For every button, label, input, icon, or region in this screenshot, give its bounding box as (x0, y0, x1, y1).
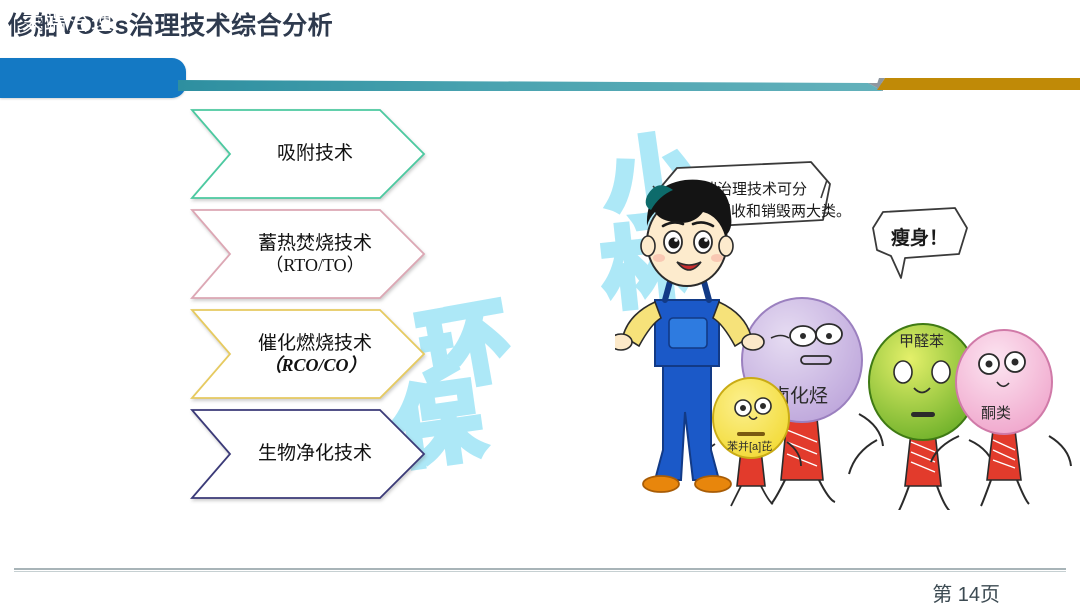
balloon-pink-label: 酮类 (981, 405, 1011, 422)
cartoon-illustration: 末端治理技术可分 为回收和销毁两大类。 瘦身！ 甲醛苯 (615, 150, 1075, 510)
chevron-label-2: 蓄热焚烧技术 （RTO/TO） (190, 208, 426, 300)
chevron-line1-2: 蓄热焚烧技术 (258, 233, 372, 255)
header-gold-bar (877, 78, 1080, 92)
slide-root: 修船VOCs治理技术综合分析 末端治理 小 林 环 保 (0, 0, 1080, 608)
chevron-item-1[interactable]: 吸附技术 (190, 108, 426, 200)
chevron-label-3: 催化燃烧技术 （RCO/CO） (190, 308, 426, 400)
technology-chevron-list: 吸附技术 蓄热焚烧技术 （RTO/TO） 催化燃烧技术 （RCO/CO） (190, 108, 430, 512)
chevron-label-4: 生物净化技术 (190, 408, 426, 500)
balloon-green-label: 甲醛苯 (899, 333, 944, 350)
chevron-item-3[interactable]: 催化燃烧技术 （RCO/CO） (190, 308, 426, 400)
chevron-line1-3: 催化燃烧技术 (258, 333, 372, 355)
chevron-line2-2: （RTO/TO） (265, 255, 364, 276)
speech-small-text: 瘦身！ (891, 226, 948, 249)
chevron-item-2[interactable]: 蓄热焚烧技术 （RTO/TO） (190, 208, 426, 300)
chevron-line1-1: 吸附技术 (277, 143, 353, 165)
balloon-yellow-label: 苯并[a]芘 (727, 439, 772, 453)
chevron-label-1: 吸附技术 (190, 108, 426, 200)
footer-divider-line-2 (14, 571, 1066, 572)
page-number: 第 14页 (932, 578, 1000, 607)
footer-divider (14, 568, 1066, 572)
chevron-item-4[interactable]: 生物净化技术 (190, 408, 426, 500)
header-teal-rule (178, 80, 883, 92)
chevron-line1-4: 生物净化技术 (258, 443, 372, 465)
chevron-line2-3: （RCO/CO） (263, 355, 366, 376)
section-tab-label: 末端治理 (22, 7, 114, 37)
section-tab[interactable] (0, 58, 186, 98)
footer-divider-line-1 (14, 568, 1066, 570)
